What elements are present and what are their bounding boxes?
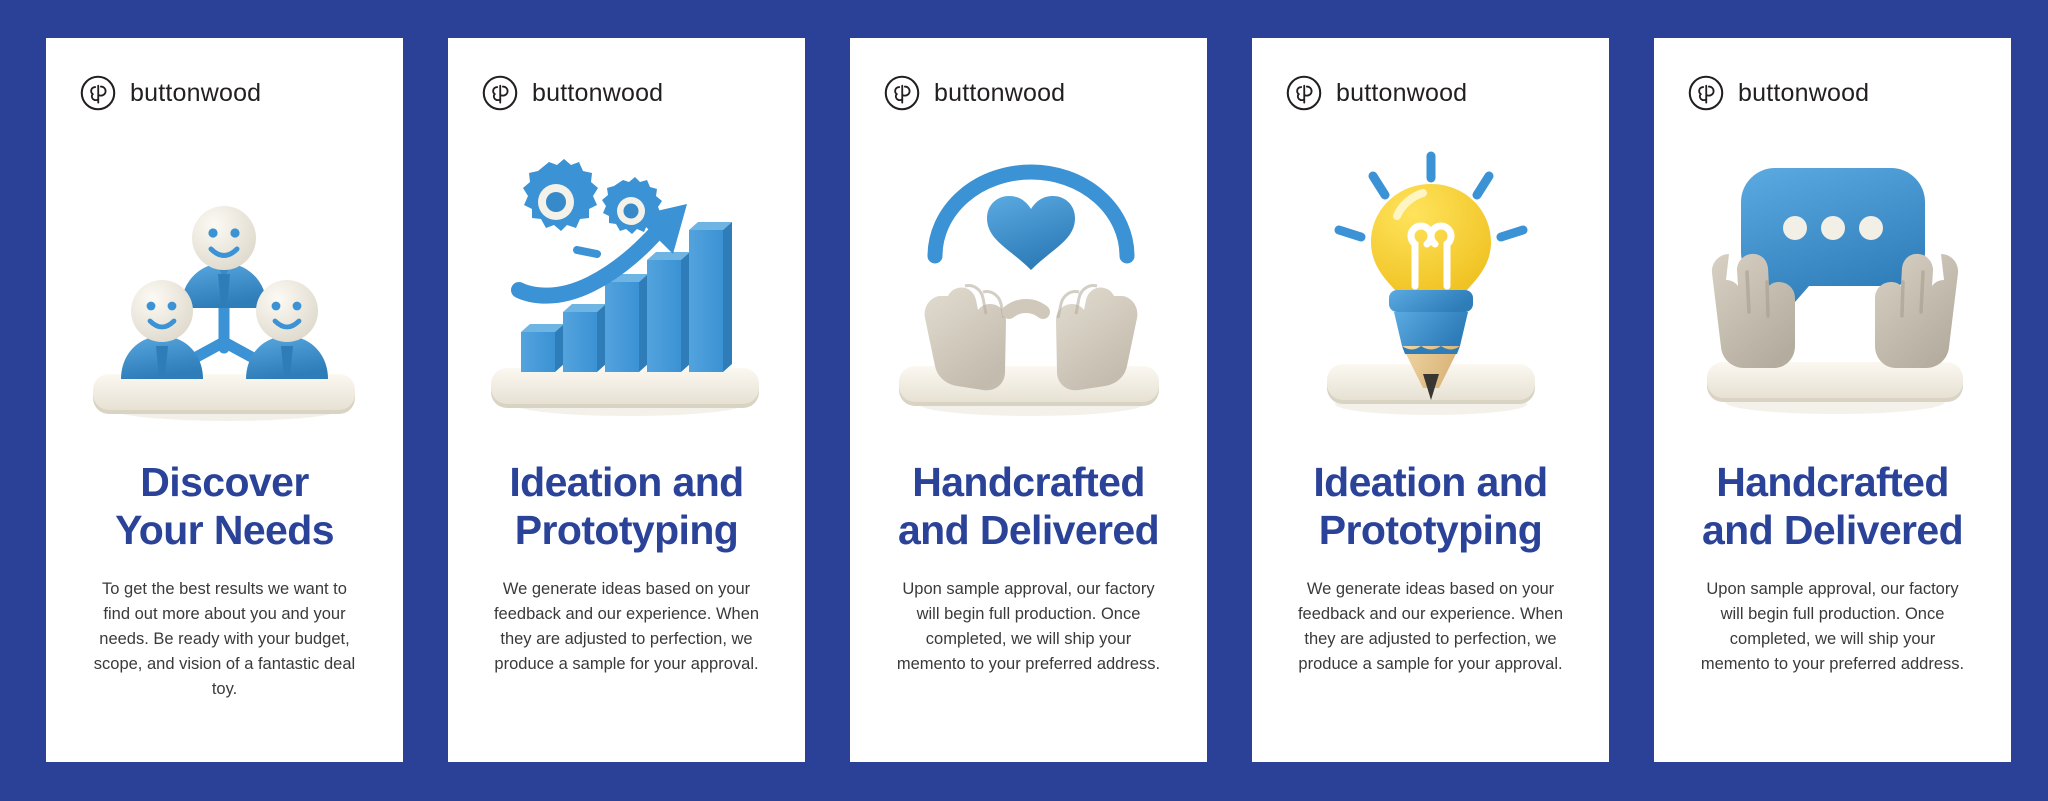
- brand-name: buttonwood: [1738, 81, 1869, 106]
- process-card[interactable]: buttonwood: [850, 38, 1207, 762]
- card-illustration: [1252, 134, 1609, 426]
- lightbulb-pencil-idea-3d-icon: [1281, 146, 1581, 426]
- card-body-text: Upon sample approval, our factory will b…: [895, 577, 1163, 677]
- card-body-text: We generate ideas based on your feedback…: [493, 577, 761, 677]
- process-card[interactable]: buttonwood: [1654, 38, 2011, 762]
- process-card[interactable]: buttonwood: [448, 38, 805, 762]
- gears-growth-bar-chart-arrow-3d-icon: [477, 146, 777, 426]
- brand-logo: buttonwood: [850, 38, 1207, 112]
- pinky-promise-hands-heart-3d-icon: [879, 146, 1179, 426]
- card-illustration: [448, 134, 805, 426]
- buttonwood-tree-circle-icon: [481, 74, 519, 112]
- card-heading: Ideation and Prototyping: [1271, 458, 1591, 555]
- card-body-text: Upon sample approval, our factory will b…: [1699, 577, 1967, 677]
- brand-logo: buttonwood: [1252, 38, 1609, 112]
- process-card[interactable]: buttonwood: [46, 38, 403, 762]
- card-body-text: We generate ideas based on your feedback…: [1297, 577, 1565, 677]
- brand-logo: buttonwood: [46, 38, 403, 112]
- three-people-org-chart-3d-icon: [75, 146, 375, 426]
- brand-name: buttonwood: [934, 81, 1065, 106]
- card-heading: Handcrafted and Delivered: [1673, 458, 1993, 555]
- brand-name: buttonwood: [130, 81, 261, 106]
- cards-board: buttonwood: [0, 0, 2048, 801]
- card-illustration: [46, 134, 403, 426]
- card-body-text: To get the best results we want to find …: [91, 577, 359, 702]
- card-illustration: [850, 134, 1207, 426]
- hands-holding-speech-bubble-3d-icon: [1683, 146, 1983, 426]
- brand-logo: buttonwood: [1654, 38, 2011, 112]
- brand-name: buttonwood: [532, 81, 663, 106]
- card-heading: Discover Your Needs: [65, 458, 385, 555]
- brand-name: buttonwood: [1336, 81, 1467, 106]
- buttonwood-tree-circle-icon: [79, 74, 117, 112]
- buttonwood-tree-circle-icon: [1285, 74, 1323, 112]
- card-heading: Ideation and Prototyping: [467, 458, 787, 555]
- buttonwood-tree-circle-icon: [1687, 74, 1725, 112]
- buttonwood-tree-circle-icon: [883, 74, 921, 112]
- card-illustration: [1654, 134, 2011, 426]
- process-card[interactable]: buttonwood: [1252, 38, 1609, 762]
- brand-logo: buttonwood: [448, 38, 805, 112]
- card-heading: Handcrafted and Delivered: [869, 458, 1189, 555]
